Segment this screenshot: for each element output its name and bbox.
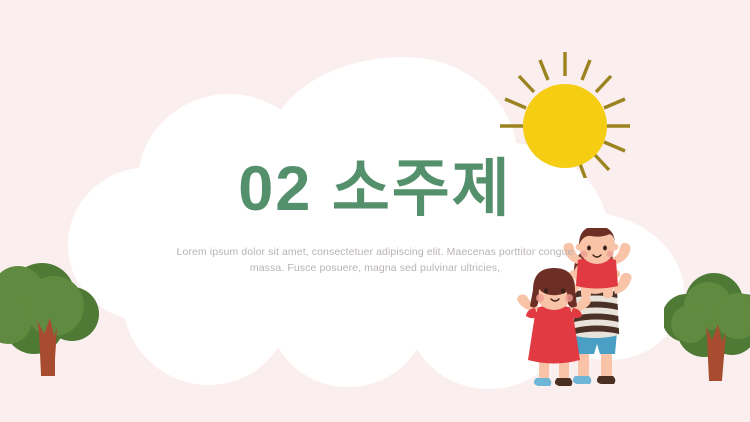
tree-foliage [664, 273, 750, 357]
tree-illustration-right [664, 272, 750, 388]
slide-canvas: 02 소주제 Lorem ipsum dolor sit amet, conse… [0, 0, 750, 422]
page-title: 02 소주제 [0, 158, 750, 221]
tree-illustration-left [0, 262, 102, 384]
page-subtitle: Lorem ipsum dolor sit amet, consectetuer… [175, 244, 575, 277]
